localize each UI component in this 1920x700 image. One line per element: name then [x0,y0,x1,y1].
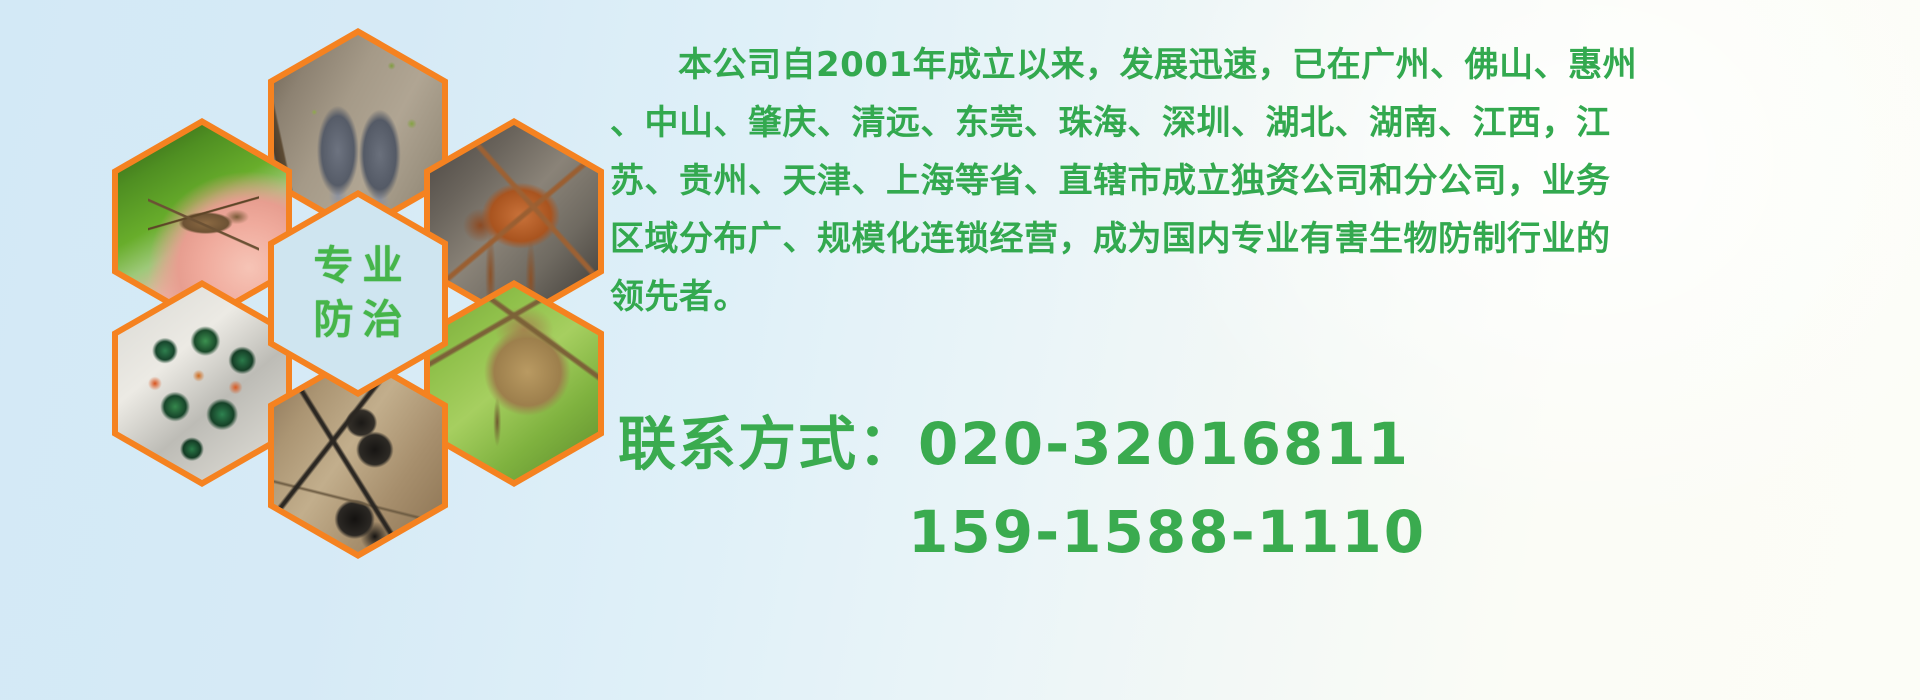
hex-inner: 专业 防治 [274,197,442,390]
hex-inner [118,287,286,480]
promo-banner: 专业 防治 本公司自2001年成立以来，发展迅速，已在广州、佛山、惠州 、中山、… [0,0,1920,700]
intro-line: 、中山、肇庆、清远、东莞、珠海、深圳、湖北、湖南、江西，江 [610,94,1910,152]
hex-tile-stinkbug [424,280,604,487]
hex-tile-slogan: 专业 防治 [268,190,448,397]
intro-line: 领先者。 [610,268,1910,326]
stinkbug-photo [430,287,598,480]
intro-line: 苏、贵州、天津、上海等省、直辖市成立独资公司和分公司，业务 [610,152,1910,210]
company-intro-paragraph: 本公司自2001年成立以来，发展迅速，已在广州、佛山、惠州 、中山、肇庆、清远、… [610,36,1910,326]
contact-block: 联系方式：020-32016811 159-1588-1110 [618,400,1918,576]
hex-inner [430,287,598,480]
hexagon-photo-cluster: 专业 防治 [0,0,600,700]
hex-tile-flies [112,280,292,487]
intro-line: 本公司自2001年成立以来，发展迅速，已在广州、佛山、惠州 [610,36,1910,94]
contact-phone-secondary: 159-1588-1110 [618,488,1918,576]
contact-phone-primary: 联系方式：020-32016811 [618,400,1918,488]
intro-line: 区域分布广、规模化连锁经营，成为国内专业有害生物防制行业的 [610,210,1910,268]
flies-photo [118,287,286,480]
slogan-line-2: 防治 [305,297,412,344]
slogan-text: 专业 防治 [274,197,442,390]
slogan-line-1: 专业 [305,243,412,290]
